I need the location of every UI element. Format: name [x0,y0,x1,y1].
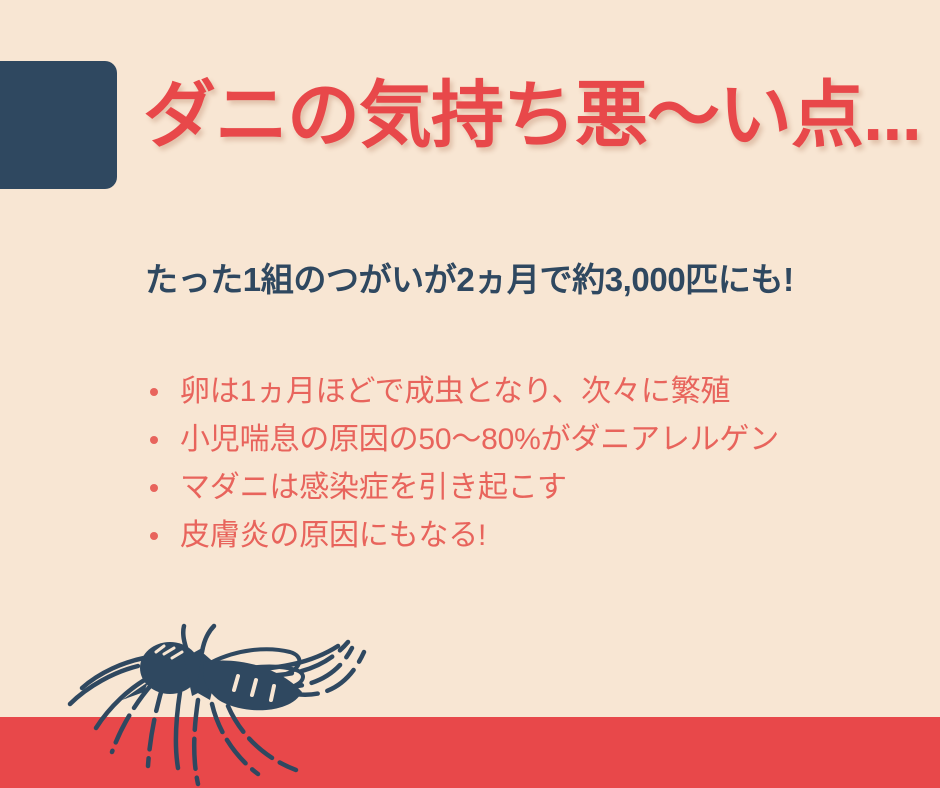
page-title: ダニの気持ち悪〜い点... [143,72,923,160]
bullet-dot-icon [150,388,158,396]
bullet-dot-icon [150,484,158,492]
list-item: 皮膚炎の原因にもなる! [148,512,938,560]
list-item: 小児喘息の原因の50〜80%がダニアレルゲン [148,416,938,464]
list-item: 卵は1ヵ月ほどで成虫となり、次々に繁殖 [148,368,938,416]
bullet-dot-icon [150,436,158,444]
slide-canvas: ダニの気持ち悪〜い点... たった1組のつがいが2ヵ月で約3,000匹にも! 卵… [0,0,940,788]
mosquito-illustration [52,596,392,788]
bullet-dot-icon [150,532,158,540]
list-item: マダニは感染症を引き起こす [148,464,938,512]
subtitle-text: たった1組のつがいが2ヵ月で約3,000匹にも! [145,258,935,302]
navy-accent-tab [0,61,117,189]
fact-bullet-list: 卵は1ヵ月ほどで成虫となり、次々に繁殖 小児喘息の原因の50〜80%がダニアレル… [148,368,938,560]
list-item-label: マダニは感染症を引き起こす [180,471,567,504]
list-item-label: 小児喘息の原因の50〜80%がダニアレルゲン [180,423,779,456]
mosquito-icon [52,596,392,788]
list-item-label: 皮膚炎の原因にもなる! [180,519,486,552]
list-item-label: 卵は1ヵ月ほどで成虫となり、次々に繁殖 [180,375,730,408]
